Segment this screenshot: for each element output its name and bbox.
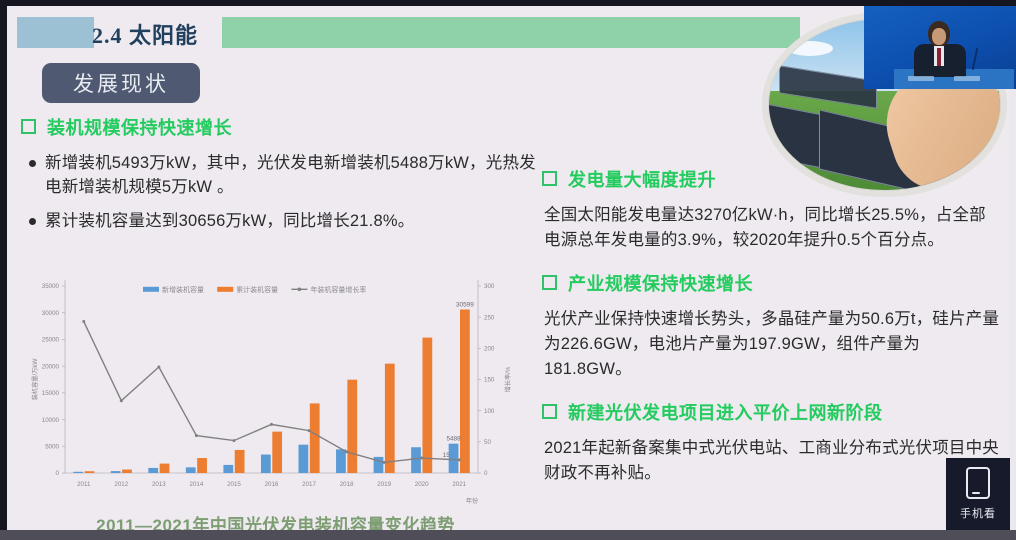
podium-logo bbox=[908, 76, 934, 81]
svg-text:100: 100 bbox=[484, 408, 495, 415]
svg-text:2021: 2021 bbox=[452, 481, 466, 488]
svg-text:300: 300 bbox=[484, 283, 495, 290]
list-item: 累计装机容量达到30656万kW，同比增长21.8%。 bbox=[29, 209, 541, 233]
svg-text:0: 0 bbox=[484, 470, 488, 477]
header-blue-block bbox=[17, 17, 94, 48]
svg-text:15000: 15000 bbox=[42, 390, 60, 397]
svg-text:2020: 2020 bbox=[415, 481, 429, 488]
left-heading-label: 装机规模保持快速增长 bbox=[47, 114, 232, 140]
installed-capacity-chart: 0500010000150002000025000300003500005010… bbox=[23, 268, 528, 508]
svg-text:2019: 2019 bbox=[377, 481, 391, 488]
svg-text:2015: 2015 bbox=[227, 481, 241, 488]
svg-text:2013: 2013 bbox=[152, 481, 166, 488]
right-body-text: 2021年起新备案集中式光伏电站、工商业分布式光伏项目中央财政不再补贴。 bbox=[544, 436, 1002, 486]
podium-logo bbox=[954, 76, 980, 81]
video-overlay[interactable] bbox=[864, 6, 1016, 89]
svg-text:累计装机容量: 累计装机容量 bbox=[236, 285, 278, 294]
frame-edge-left bbox=[0, 0, 7, 540]
speaker-face bbox=[932, 28, 946, 45]
right-column: 发电量大幅度提升 全国太阳能发电量达3270亿kW·h，同比增长25.5%，占全… bbox=[542, 166, 1002, 504]
svg-text:装机容量/万kW: 装机容量/万kW bbox=[31, 359, 39, 401]
svg-text:2016: 2016 bbox=[265, 481, 279, 488]
square-bullet-icon bbox=[21, 119, 36, 134]
dot-bullet-icon bbox=[29, 160, 36, 167]
right-body-text: 全国太阳能发电量达3270亿kW·h，同比增长25.5%，占全部电源总年发电量的… bbox=[544, 203, 1002, 253]
svg-text:30599: 30599 bbox=[456, 302, 474, 309]
svg-text:20000: 20000 bbox=[42, 363, 60, 370]
list-item: 新增装机5493万kW，其中，光伏发电新增装机5488万kW，光热发电新增装机规… bbox=[29, 151, 541, 200]
square-bullet-icon bbox=[542, 171, 557, 186]
slide-canvas: 2.4 太阳能 发展现状 装机规模保持快速增长 新增装机5493万kW，其中，光… bbox=[7, 6, 1009, 530]
left-section-heading: 装机规模保持快速增长 bbox=[21, 114, 541, 140]
svg-text:5000: 5000 bbox=[45, 443, 59, 450]
phone-icon bbox=[966, 467, 990, 499]
watch-on-phone-label: 手机看 bbox=[960, 505, 996, 521]
right-heading-label: 新建光伏发电项目进入平价上网新阶段 bbox=[568, 399, 883, 425]
svg-text:2018: 2018 bbox=[340, 481, 354, 488]
svg-text:200: 200 bbox=[484, 346, 495, 353]
right-heading-label: 发电量大幅度提升 bbox=[568, 166, 716, 192]
status-badge: 发展现状 bbox=[42, 63, 200, 103]
svg-text:10000: 10000 bbox=[42, 417, 60, 424]
svg-text:15: 15 bbox=[443, 452, 451, 459]
screenshot-root: 2.4 太阳能 发展现状 装机规模保持快速增长 新增装机5493万kW，其中，光… bbox=[0, 0, 1016, 540]
svg-text:0: 0 bbox=[56, 470, 60, 477]
svg-text:25000: 25000 bbox=[42, 337, 60, 344]
svg-text:年份: 年份 bbox=[466, 497, 479, 505]
svg-text:2014: 2014 bbox=[190, 481, 204, 488]
svg-text:2012: 2012 bbox=[114, 481, 128, 488]
svg-text:2017: 2017 bbox=[302, 481, 316, 488]
microphone-icon bbox=[972, 48, 979, 70]
right-section-heading: 产业规模保持快速增长 bbox=[542, 270, 1002, 296]
svg-text:年装机容量增长率: 年装机容量增长率 bbox=[310, 285, 366, 294]
frame-edge-top bbox=[0, 0, 1016, 6]
svg-text:新增装机容量: 新增装机容量 bbox=[162, 285, 204, 294]
svg-text:35000: 35000 bbox=[42, 283, 60, 290]
svg-text:增长率/%: 增长率/% bbox=[504, 366, 512, 392]
svg-text:150: 150 bbox=[484, 377, 495, 384]
bullet-text: 新增装机5493万kW，其中，光伏发电新增装机5488万kW，光热发电新增装机规… bbox=[45, 151, 541, 200]
svg-text:2011: 2011 bbox=[77, 481, 91, 488]
watch-on-phone-widget[interactable]: 手机看 bbox=[946, 458, 1010, 530]
right-body-text: 光伏产业保持快速增长势头，多晶硅产量为50.6万t，硅片产量为226.6GW，电… bbox=[544, 307, 1002, 382]
page-title: 2.4 太阳能 bbox=[92, 18, 198, 49]
svg-text:250: 250 bbox=[484, 314, 495, 321]
chart-figure: 0500010000150002000025000300003500005010… bbox=[23, 268, 528, 508]
bullet-text: 累计装机容量达到30656万kW，同比增长21.8%。 bbox=[45, 209, 414, 233]
svg-text:30000: 30000 bbox=[42, 310, 60, 317]
speaker-tie bbox=[937, 48, 941, 66]
left-column: 装机规模保持快速增长 新增装机5493万kW，其中，光伏发电新增装机5488万k… bbox=[21, 114, 541, 242]
svg-text:5488: 5488 bbox=[446, 436, 461, 443]
svg-text:50: 50 bbox=[484, 439, 491, 446]
square-bullet-icon bbox=[542, 404, 557, 419]
header-green-bar bbox=[222, 17, 800, 48]
frame-edge-bottom bbox=[0, 530, 1016, 540]
dot-bullet-icon bbox=[29, 218, 36, 225]
right-section: 产业规模保持快速增长 光伏产业保持快速增长势头，多晶硅产量为50.6万t，硅片产… bbox=[542, 270, 1002, 382]
square-bullet-icon bbox=[542, 275, 557, 290]
right-section: 新建光伏发电项目进入平价上网新阶段 2021年起新备案集中式光伏电站、工商业分布… bbox=[542, 399, 1002, 486]
cloud-shape bbox=[787, 41, 833, 56]
right-heading-label: 产业规模保持快速增长 bbox=[568, 270, 753, 296]
right-section-heading: 新建光伏发电项目进入平价上网新阶段 bbox=[542, 399, 1002, 425]
